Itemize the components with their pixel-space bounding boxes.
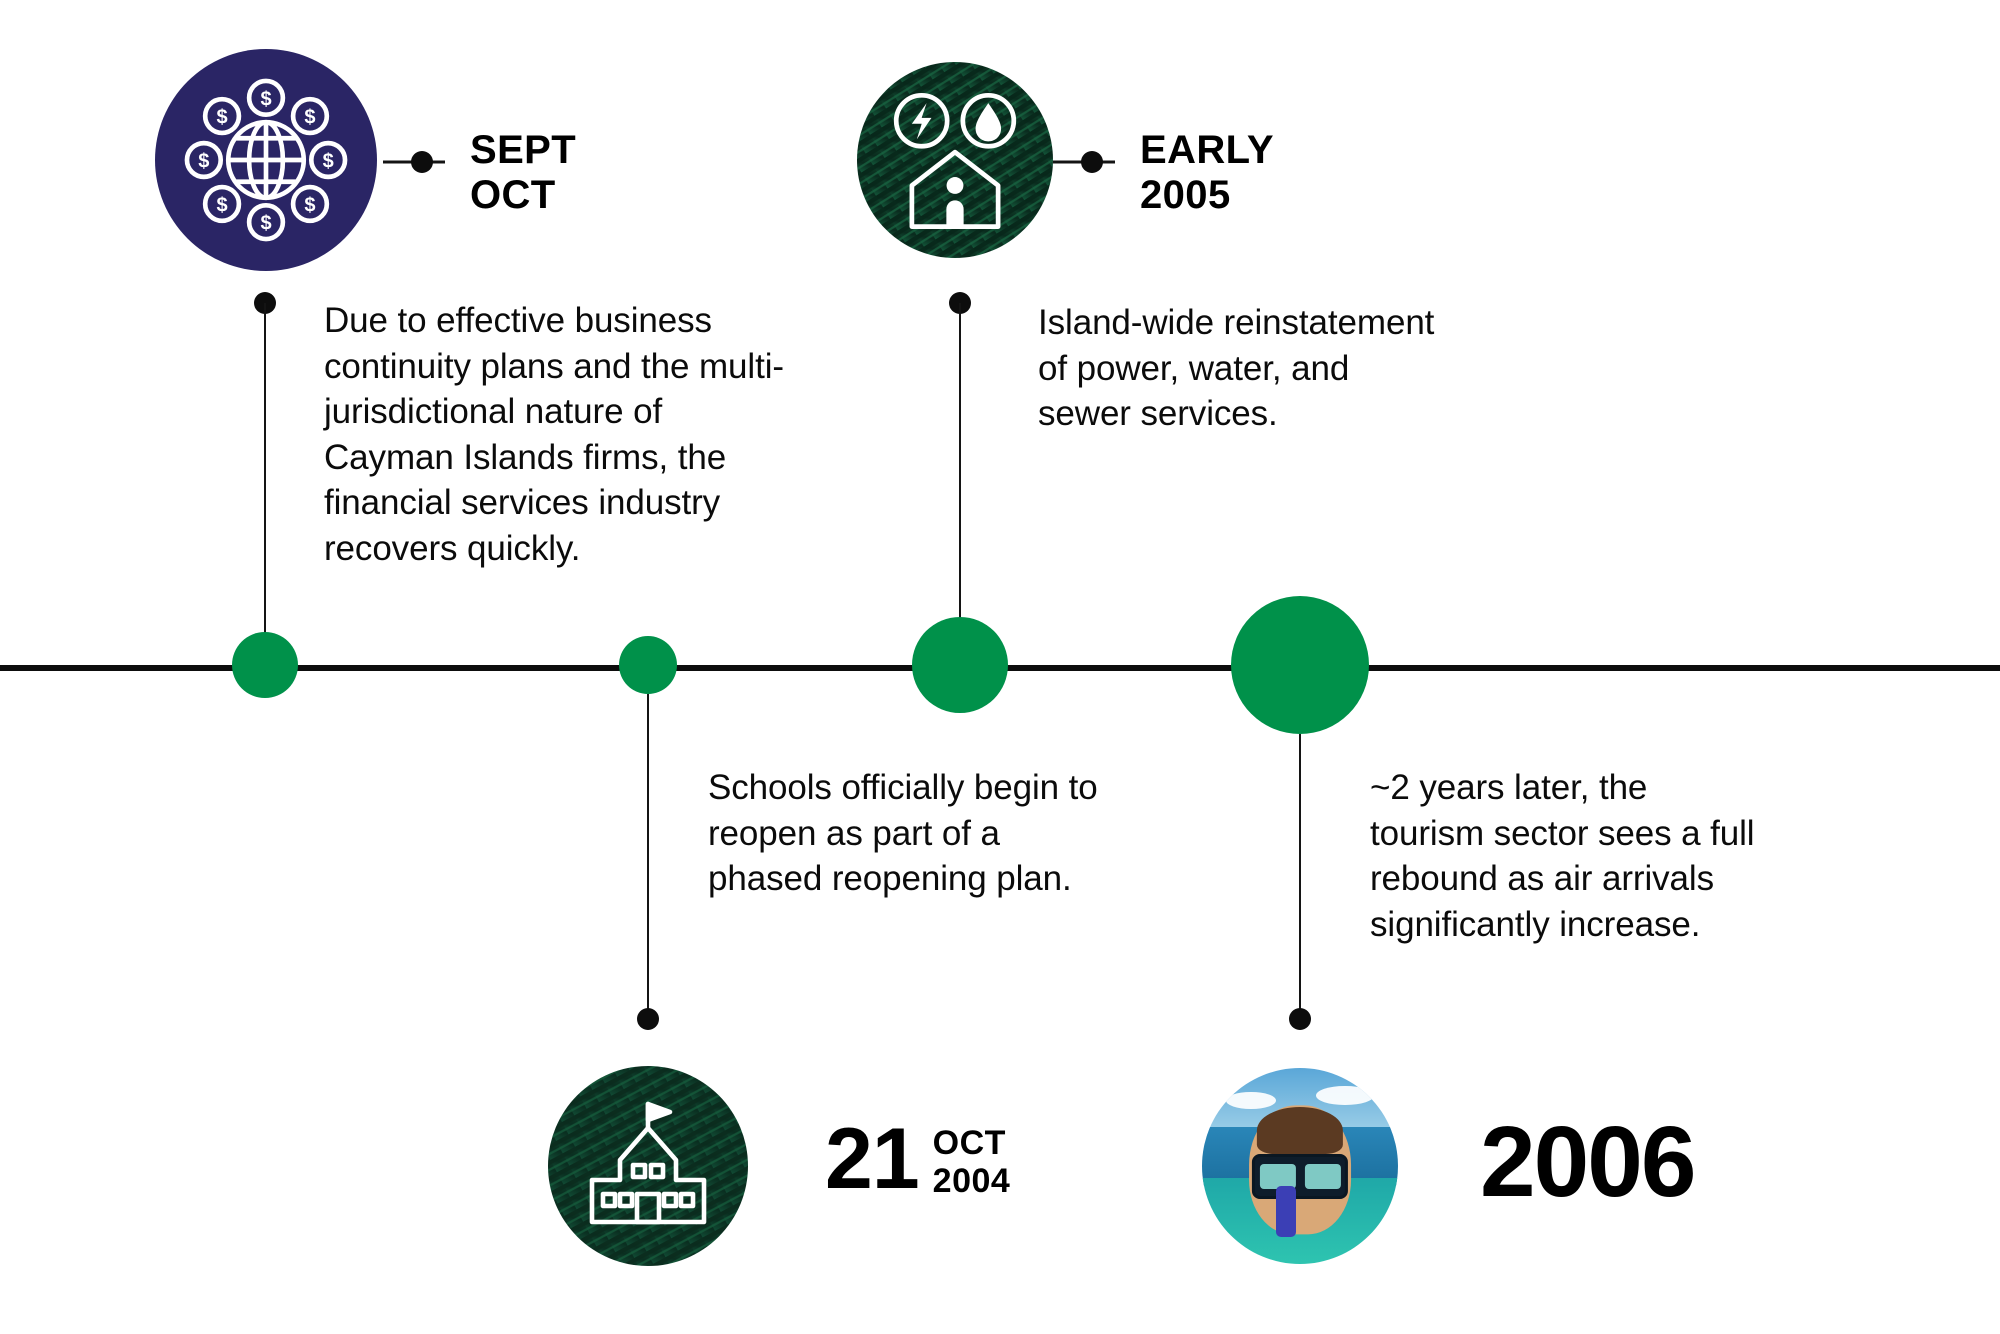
body-financial-recovery: Due to effective business continuity pla… — [324, 298, 924, 571]
stem-utilities — [959, 303, 961, 665]
svg-text:$: $ — [304, 107, 315, 129]
school-building-flag-icon — [548, 1066, 748, 1266]
caption-month-year-oct-2004: OCT 2004 — [933, 1120, 1011, 1200]
badge-snorkeler-photo[interactable] — [1202, 1068, 1398, 1264]
mask-lens-right — [1305, 1164, 1341, 1189]
caption-early-2005: EARLY 2005 — [1140, 128, 1274, 218]
caption-day-21: 21 — [825, 1120, 919, 1199]
snorkel-mask — [1252, 1154, 1348, 1199]
badge-power-water-house[interactable] — [857, 62, 1053, 258]
timeline-node-utilities[interactable] — [912, 617, 1008, 713]
power-water-house-icon — [857, 62, 1053, 258]
badge-school-building[interactable] — [548, 1066, 748, 1266]
stem-cap-tourism — [1289, 1008, 1311, 1030]
svg-text:$: $ — [304, 195, 315, 217]
timeline-node-tourism[interactable] — [1231, 596, 1369, 734]
body-utilities-restored: Island-wide reinstatement of power, wate… — [1038, 300, 1558, 437]
svg-text:$: $ — [216, 107, 227, 129]
leader-dot-early-2005 — [1081, 151, 1103, 173]
caption-2006: 2006 — [1480, 1112, 1694, 1212]
snorkel-tube — [1276, 1186, 1296, 1237]
svg-text:$: $ — [260, 213, 271, 235]
badge-globe-dollar-coins[interactable]: $ $ $ $ $ $ $ $ — [155, 49, 377, 271]
svg-text:$: $ — [323, 151, 334, 173]
globe-dollar-coins-icon: $ $ $ $ $ $ $ $ — [155, 49, 377, 271]
body-tourism-rebound: ~2 years later, the tourism sector sees … — [1370, 765, 1890, 947]
svg-text:$: $ — [260, 88, 271, 110]
timeline-node-schools[interactable] — [619, 636, 677, 694]
leader-dot-sept-oct — [411, 151, 433, 173]
stem-financial — [264, 303, 266, 665]
snorkeler-hair — [1257, 1107, 1343, 1154]
svg-text:$: $ — [198, 151, 209, 173]
timeline-infographic: $ $ $ $ $ $ $ $ SEPT OCT Due to effectiv… — [0, 0, 2000, 1334]
timeline-node-financial[interactable] — [232, 632, 298, 698]
stem-schools — [647, 694, 649, 1019]
caption-21-oct-2004: 21 OCT 2004 — [825, 1120, 1010, 1200]
stem-tourism — [1299, 734, 1301, 1019]
caption-sept-oct: SEPT OCT — [470, 128, 576, 218]
svg-text:$: $ — [216, 195, 227, 217]
body-schools-reopen: Schools officially begin to reopen as pa… — [708, 765, 1228, 902]
stem-cap-schools — [637, 1008, 659, 1030]
cloud-shape — [1226, 1092, 1277, 1110]
